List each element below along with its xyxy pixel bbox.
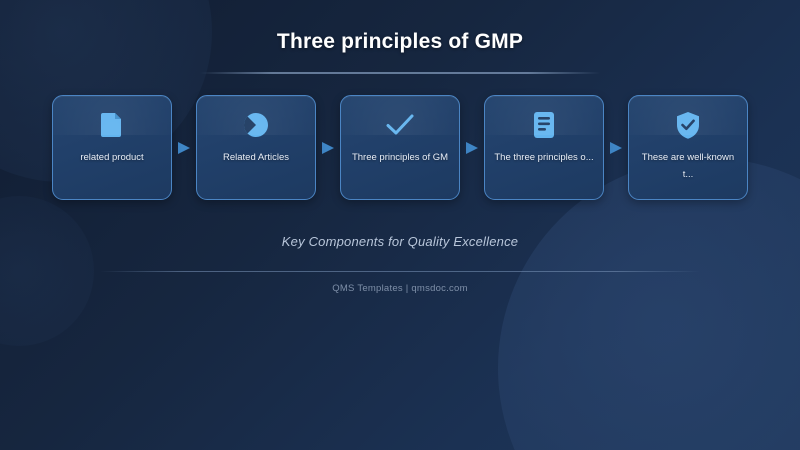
flow-card-5-label: These are well-known t... bbox=[636, 150, 740, 183]
footer-divider bbox=[100, 271, 700, 272]
page-title: Three principles of GMP bbox=[277, 30, 523, 53]
footer-credit: QMS Templates | qmsdoc.com bbox=[332, 283, 468, 294]
flow-card-5[interactable]: These are well-known t... bbox=[628, 95, 748, 200]
flow-arrow-3 bbox=[460, 95, 484, 200]
flow-card-3-label: Three principles of GM bbox=[348, 150, 452, 167]
title-divider bbox=[200, 72, 600, 74]
flow-card-3[interactable]: Three principles of GM bbox=[340, 95, 460, 200]
flow-card-1-label: related product bbox=[60, 150, 164, 167]
flow-arrow-2 bbox=[316, 95, 340, 200]
process-flow: related product Related Articles bbox=[52, 95, 748, 200]
pie-circle-icon bbox=[241, 110, 271, 140]
document-lines-icon bbox=[529, 110, 559, 140]
shield-check-icon bbox=[673, 110, 703, 140]
flow-arrow-4 bbox=[604, 95, 628, 200]
flow-card-2[interactable]: Related Articles bbox=[196, 95, 316, 200]
subtitle: Key Components for Quality Excellence bbox=[282, 234, 518, 249]
slide-content: Three principles of GMP related product bbox=[0, 0, 800, 450]
check-icon bbox=[385, 110, 415, 140]
flow-card-2-label: Related Articles bbox=[204, 150, 308, 167]
flow-card-1[interactable]: related product bbox=[52, 95, 172, 200]
slide-background: Three principles of GMP related product bbox=[0, 0, 800, 450]
flow-card-4-label: The three principles o... bbox=[492, 150, 596, 167]
file-icon bbox=[97, 110, 127, 140]
flow-arrow-1 bbox=[172, 95, 196, 200]
flow-card-4[interactable]: The three principles o... bbox=[484, 95, 604, 200]
